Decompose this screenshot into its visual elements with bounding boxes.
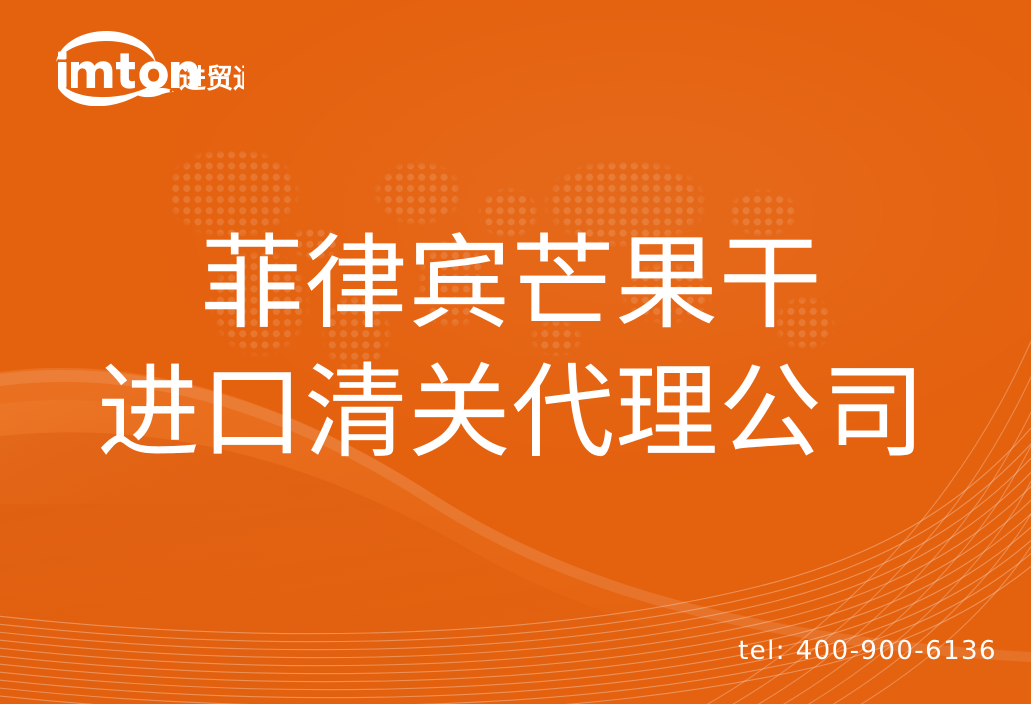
headline-line-2: 进口清关代理公司 (0, 362, 1031, 465)
headline-block: 菲律宾芒果干 进口清关代理公司 (0, 233, 1031, 465)
brand-logo[interactable]: 进贸通 ® (34, 28, 244, 106)
imton-logo-icon: 进贸通 ® (34, 28, 244, 106)
promo-banner: 进贸通 ® 菲律宾芒果干 进口清关代理公司 tel: 400-900-6136 (0, 0, 1031, 704)
headline-line-1: 菲律宾芒果干 (0, 233, 1031, 336)
logo-chinese-name: 进贸通 (179, 64, 244, 95)
contact-telephone[interactable]: tel: 400-900-6136 (738, 636, 997, 666)
